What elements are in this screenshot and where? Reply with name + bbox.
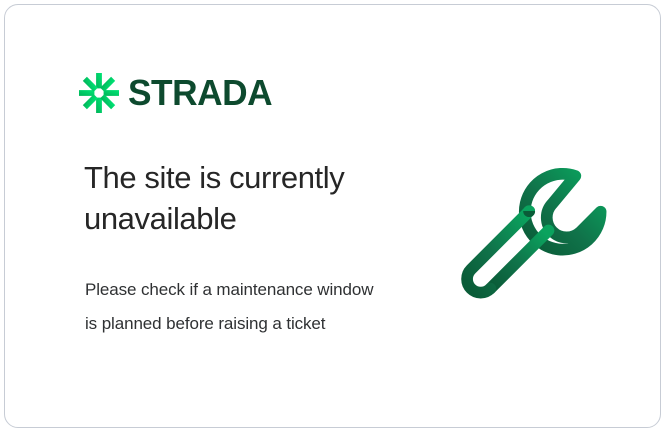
brand-wordmark: STRADA <box>128 75 272 111</box>
brand-logo: STRADA <box>79 73 275 113</box>
status-card: STRADA The site is currently unavailable… <box>4 4 661 428</box>
error-page: STRADA The site is currently unavailable… <box>0 0 666 436</box>
page-title: The site is currently unavailable <box>84 157 414 239</box>
page-description: Please check if a maintenance window is … <box>85 273 385 341</box>
wrench-icon <box>460 157 618 315</box>
strada-asterisk-icon <box>79 73 119 113</box>
